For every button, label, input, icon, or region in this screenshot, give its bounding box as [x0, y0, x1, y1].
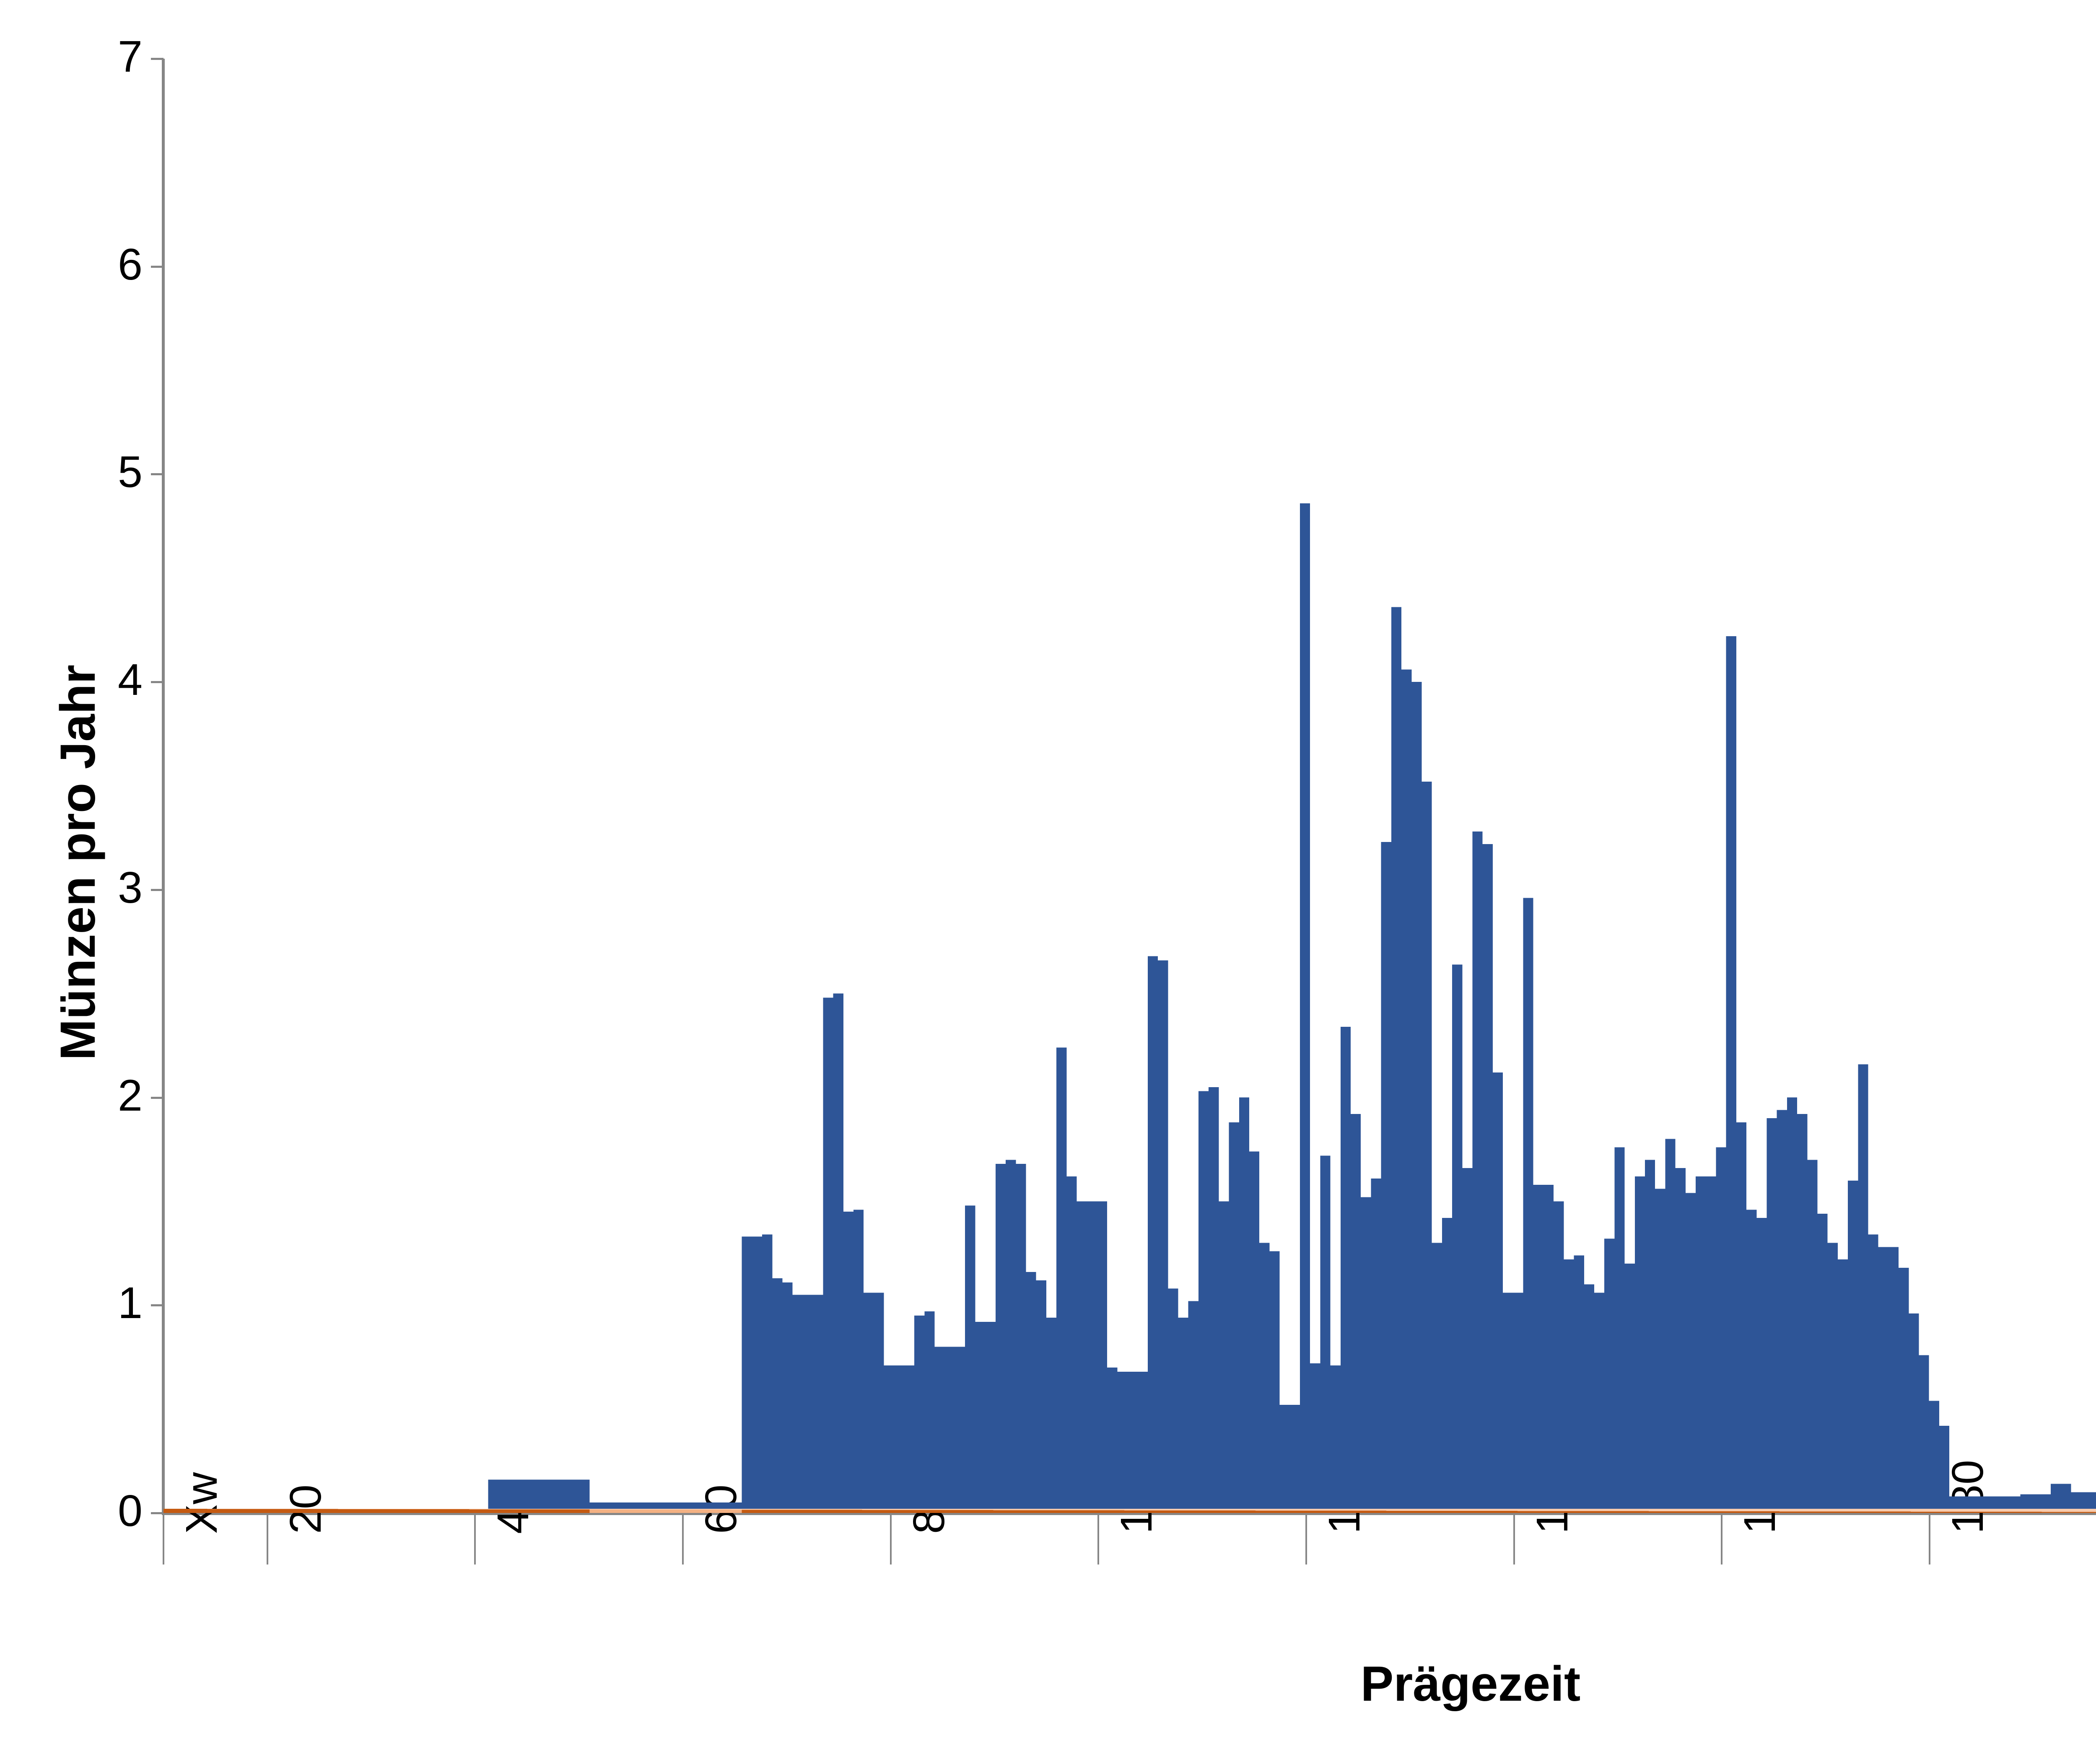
- x-axis-title: Prägezeit: [0, 1655, 2096, 1712]
- x-tick: [1721, 1515, 1722, 1565]
- y-tick-label: 1: [46, 1281, 143, 1325]
- x-tick: [890, 1515, 892, 1565]
- y-axis-title: Münzen pro Jahr: [49, 665, 106, 1060]
- x-tick: [474, 1515, 476, 1565]
- y-tick: [151, 473, 163, 475]
- y-tick: [151, 58, 163, 60]
- y-tick: [151, 889, 163, 891]
- area-series-an: [163, 503, 2096, 1509]
- x-tick: [163, 1515, 164, 1565]
- x-tick: [682, 1515, 684, 1565]
- y-tick: [151, 1097, 163, 1099]
- y-tick: [151, 1304, 163, 1306]
- y-tick-label: 7: [46, 34, 143, 79]
- y-tick-label: 5: [46, 450, 143, 494]
- x-tick: [267, 1515, 268, 1565]
- y-tick-label: 6: [46, 242, 143, 287]
- y-tick-label: 2: [46, 1073, 143, 1118]
- x-tick: [1097, 1515, 1099, 1565]
- y-tick: [151, 1512, 163, 1514]
- y-axis-title-anchor: Münzen pro Jahr: [49, 1060, 54, 1065]
- y-tick: [151, 266, 163, 268]
- x-tick: [1929, 1515, 1930, 1565]
- chart-canvas: 76543210 Xw20406080100120140160180200220…: [0, 0, 2096, 1764]
- y-tick-label: 0: [46, 1489, 143, 1533]
- x-tick: [1513, 1515, 1515, 1565]
- y-tick: [151, 681, 163, 683]
- stacked-area-series: [163, 59, 2096, 1513]
- plot-area: [163, 59, 2096, 1513]
- x-tick: [1305, 1515, 1307, 1565]
